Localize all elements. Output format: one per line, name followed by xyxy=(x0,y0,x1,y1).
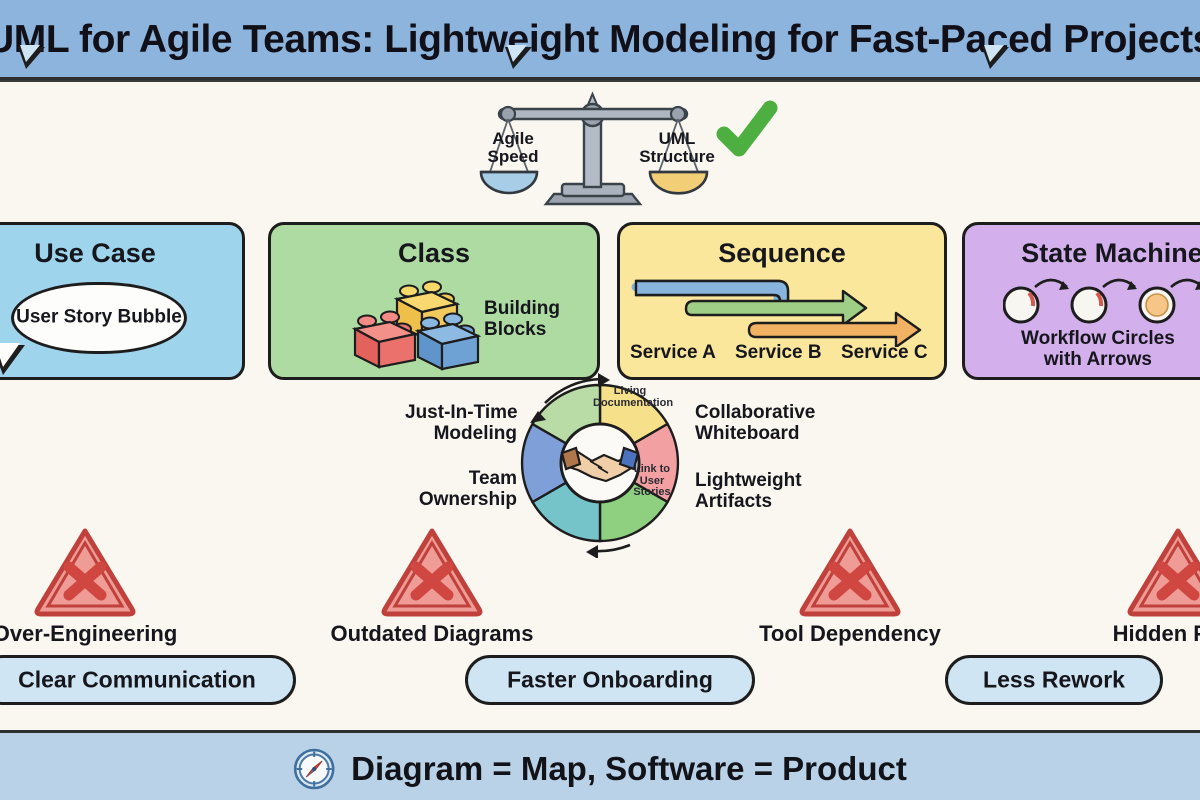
diagram-card-state-machine[interactable]: State Machine Workflow Circles with Arro… xyxy=(962,222,1200,380)
card-title: State Machine xyxy=(965,238,1200,269)
wheel-label-collaborative-whiteboard: Collaborative Whiteboard xyxy=(695,402,845,445)
lifeline-label-b: Service B xyxy=(735,343,822,364)
pitfall-label: Over-Engineering xyxy=(0,621,190,647)
warning-x-icon xyxy=(380,525,484,617)
card-title: Class xyxy=(271,238,597,269)
balance-right-label: UML Structure xyxy=(622,130,732,166)
diagram-card-class[interactable]: Class xyxy=(268,222,600,380)
header-band: UML for Agile Teams: Lightweight Modelin… xyxy=(0,0,1200,80)
pitfall-label: Outdated Diagrams xyxy=(318,621,546,647)
warning-x-icon xyxy=(798,525,902,617)
infographic-poster: UML for Agile Teams: Lightweight Modelin… xyxy=(0,0,1200,800)
diagram-card-sequence[interactable]: Sequence Service A Service B Service C xyxy=(617,222,947,380)
warning-x-icon xyxy=(1126,525,1200,617)
wheel-label-lightweight-artifacts: Lightweight Artifacts xyxy=(695,470,845,513)
wheel-label-team-ownership: Team Ownership xyxy=(400,468,517,511)
footer-band: Diagram = Map, Software = Product xyxy=(0,730,1200,800)
wheel-segment-living-documentation: Living Documentation xyxy=(593,386,667,409)
benefit-label: Less Rework xyxy=(948,667,1160,694)
benefit-faster-onboarding[interactable]: Faster Onboarding xyxy=(465,655,755,705)
benefit-label: Faster Onboarding xyxy=(468,667,752,694)
warning-x-icon xyxy=(33,525,137,617)
balance-scale-group: Agile Speed UML Structure xyxy=(450,88,780,213)
compass-icon xyxy=(293,748,335,790)
benefit-bubble-tail-fill-icon xyxy=(984,45,1004,62)
state-circles-icon xyxy=(1003,273,1200,325)
footer-content: Diagram = Map, Software = Product xyxy=(293,748,907,790)
benefit-bubble-tail-fill-icon xyxy=(20,45,40,62)
wheel-label-just-in-time-modeling: Just-In-Time Modeling xyxy=(405,402,517,445)
balance-left-label: Agile Speed xyxy=(458,130,568,166)
lifeline-label-a: Service A xyxy=(630,343,716,364)
benefit-label: Clear Communication xyxy=(0,667,293,694)
benefit-clear-communication[interactable]: Clear Communication xyxy=(0,655,296,705)
wheel-segment-link-to-user-stories: Link to User Stories xyxy=(623,464,681,499)
card-caption: User Story Bubble xyxy=(14,308,184,329)
benefit-less-rework[interactable]: Less Rework xyxy=(945,655,1163,705)
lifeline-label-c: Service C xyxy=(841,343,928,364)
pitfall-label: Tool Dependency xyxy=(740,621,960,647)
card-caption: Building Blocks xyxy=(484,299,560,341)
page-title: UML for Agile Teams: Lightweight Modelin… xyxy=(0,18,1200,62)
pitfall-label: Hidden Files xyxy=(1078,621,1200,647)
footer-text: Diagram = Map, Software = Product xyxy=(351,750,907,788)
speech-bubble-tail-fill-icon xyxy=(0,343,20,367)
card-title: Sequence xyxy=(620,238,944,269)
diagram-card-use-case[interactable]: Use Case User Story Bubble xyxy=(0,222,245,380)
card-caption: Workflow Circles with Arrows xyxy=(1021,329,1175,371)
benefit-bubble-tail-fill-icon xyxy=(507,45,527,62)
card-title: Use Case xyxy=(0,238,242,269)
speech-bubble-icon: User Story Bubble xyxy=(11,282,187,354)
practices-wheel: Living Documentation Link to User Storie… xyxy=(505,368,695,558)
sequence-arrows-icon xyxy=(628,277,938,347)
